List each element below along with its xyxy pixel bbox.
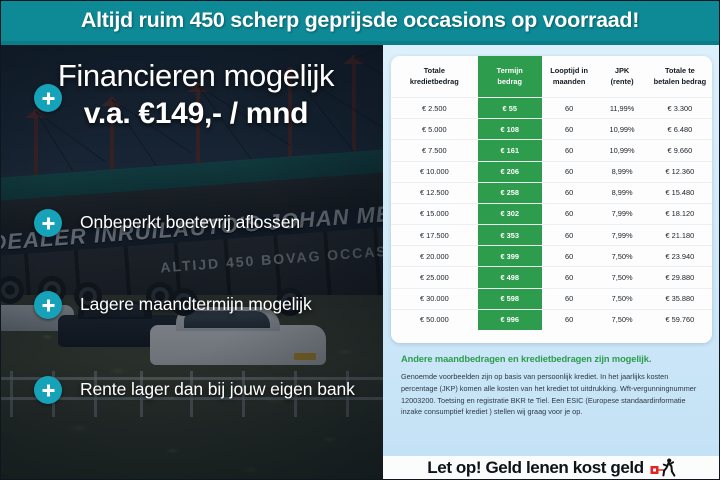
table-cell: € 20.000	[391, 246, 478, 267]
bullet-label-1: Onbeperkt boetevrij aflossen	[80, 212, 300, 233]
banner-underline	[0, 41, 720, 45]
table-row: € 2.500€ 556011,99%€ 3.300	[391, 97, 712, 118]
table-cell: € 12.360	[648, 161, 712, 182]
table-cell: 60	[542, 119, 597, 140]
table-cell: 60	[542, 288, 597, 309]
table-cell: € 12.500	[391, 182, 478, 203]
table-cell: 60	[542, 140, 597, 161]
table-cell: € 30.000	[391, 288, 478, 309]
table-cell: € 498	[478, 267, 542, 288]
table-cell: € 59.760	[648, 309, 712, 330]
disclaimer-body: Genoemde voorbeelden zijn op basis van p…	[401, 371, 701, 418]
afm-running-man-icon	[650, 458, 676, 478]
table-cell: € 15.480	[648, 182, 712, 203]
table-cell: € 2.500	[391, 97, 478, 118]
table-cell: 10,99%	[596, 119, 647, 140]
table-cell: € 161	[478, 140, 542, 161]
afm-warning-text: Let op! Geld lenen kost geld	[427, 458, 643, 478]
table-cell: € 3.300	[648, 97, 712, 118]
bullet-label-3: Rente lager dan bij jouw eigen bank	[80, 379, 355, 400]
table-cell: 60	[542, 203, 597, 224]
table-column-header: Totalekredietbedrag	[391, 56, 478, 97]
table-cell: 60	[542, 97, 597, 118]
table-cell: 7,50%	[596, 309, 647, 330]
table-cell: € 50.000	[391, 309, 478, 330]
table-cell: 7,50%	[596, 288, 647, 309]
table-row: € 10.000€ 206608,99%€ 12.360	[391, 161, 712, 182]
banner-headline: Altijd ruim 450 scherp geprijsde occasio…	[81, 8, 639, 33]
table-cell: € 23.940	[648, 246, 712, 267]
table-cell: 8,99%	[596, 161, 647, 182]
table-cell: 7,99%	[596, 203, 647, 224]
rates-panel: TotalekredietbedragTermijnbedragLooptijd…	[383, 45, 720, 456]
promo-copy: Financieren mogelijk v.a. €149,- / mnd O…	[0, 45, 392, 480]
table-cell: € 302	[478, 203, 542, 224]
table-column-header: Totale tebetalen bedrag	[648, 56, 712, 97]
plus-icon	[34, 291, 62, 319]
table-cell: € 7.500	[391, 140, 478, 161]
table-row: € 50.000€ 996607,50%€ 59.760	[391, 309, 712, 330]
table-cell: € 996	[478, 309, 542, 330]
plus-icon	[34, 209, 62, 237]
table-cell: 7,99%	[596, 225, 647, 246]
plus-icon	[34, 376, 62, 404]
bullet-label-2: Lagere maandtermijn mogelijk	[80, 294, 312, 315]
table-cell: 60	[542, 161, 597, 182]
table-row: € 12.500€ 258608,99%€ 15.480	[391, 182, 712, 203]
table-cell: € 55	[478, 97, 542, 118]
rates-table: TotalekredietbedragTermijnbedragLooptijd…	[391, 56, 712, 330]
table-cell: € 399	[478, 246, 542, 267]
table-header-row: TotalekredietbedragTermijnbedragLooptijd…	[391, 56, 712, 97]
table-cell: € 5.000	[391, 119, 478, 140]
table-column-header: Termijnbedrag	[478, 56, 542, 97]
table-cell: 60	[542, 225, 597, 246]
disclaimer-title: Andere maandbedragen en kredietbedragen …	[401, 354, 706, 364]
table-cell: € 6.480	[648, 119, 712, 140]
table-cell: € 206	[478, 161, 542, 182]
table-cell: € 353	[478, 225, 542, 246]
table-column-header: JPK(rente)	[596, 56, 647, 97]
table-cell: € 17.500	[391, 225, 478, 246]
table-cell: € 108	[478, 119, 542, 140]
table-row: € 5.000€ 1086010,99%€ 6.480	[391, 119, 712, 140]
table-cell: 60	[542, 182, 597, 203]
table-cell: € 15.000	[391, 203, 478, 224]
advertisement-banner: Altijd ruim 450 scherp geprijsde occasio…	[0, 0, 720, 480]
plus-icon	[34, 84, 62, 112]
table-row: € 17.500€ 353607,99%€ 21.180	[391, 225, 712, 246]
table-cell: 7,50%	[596, 267, 647, 288]
table-row: € 20.000€ 399607,50%€ 23.940	[391, 246, 712, 267]
table-cell: 11,99%	[596, 97, 647, 118]
table-cell: € 598	[478, 288, 542, 309]
top-banner: Altijd ruim 450 scherp geprijsde occasio…	[0, 0, 720, 41]
table-column-header: Looptijd inmaanden	[542, 56, 597, 97]
table-cell: € 258	[478, 182, 542, 203]
table-cell: € 9.660	[648, 140, 712, 161]
table-cell: 8,99%	[596, 182, 647, 203]
table-row: € 30.000€ 598607,50%€ 35.880	[391, 288, 712, 309]
table-cell: € 10.000	[391, 161, 478, 182]
table-cell: 10,99%	[596, 140, 647, 161]
table-cell: 60	[542, 309, 597, 330]
table-row: € 25.000€ 498607,50%€ 29.880	[391, 267, 712, 288]
table-cell: € 29.880	[648, 267, 712, 288]
table-cell: 7,50%	[596, 246, 647, 267]
table-cell: € 25.000	[391, 267, 478, 288]
table-cell: € 21.180	[648, 225, 712, 246]
table-cell: 60	[542, 267, 597, 288]
table-row: € 7.500€ 1616010,99%€ 9.660	[391, 140, 712, 161]
rates-card: TotalekredietbedragTermijnbedragLooptijd…	[391, 56, 712, 343]
table-cell: 60	[542, 246, 597, 267]
table-cell: € 35.880	[648, 288, 712, 309]
table-row: € 15.000€ 302607,99%€ 18.120	[391, 203, 712, 224]
table-cell: € 18.120	[648, 203, 712, 224]
afm-warning-strip: Let op! Geld lenen kost geld	[383, 456, 720, 480]
